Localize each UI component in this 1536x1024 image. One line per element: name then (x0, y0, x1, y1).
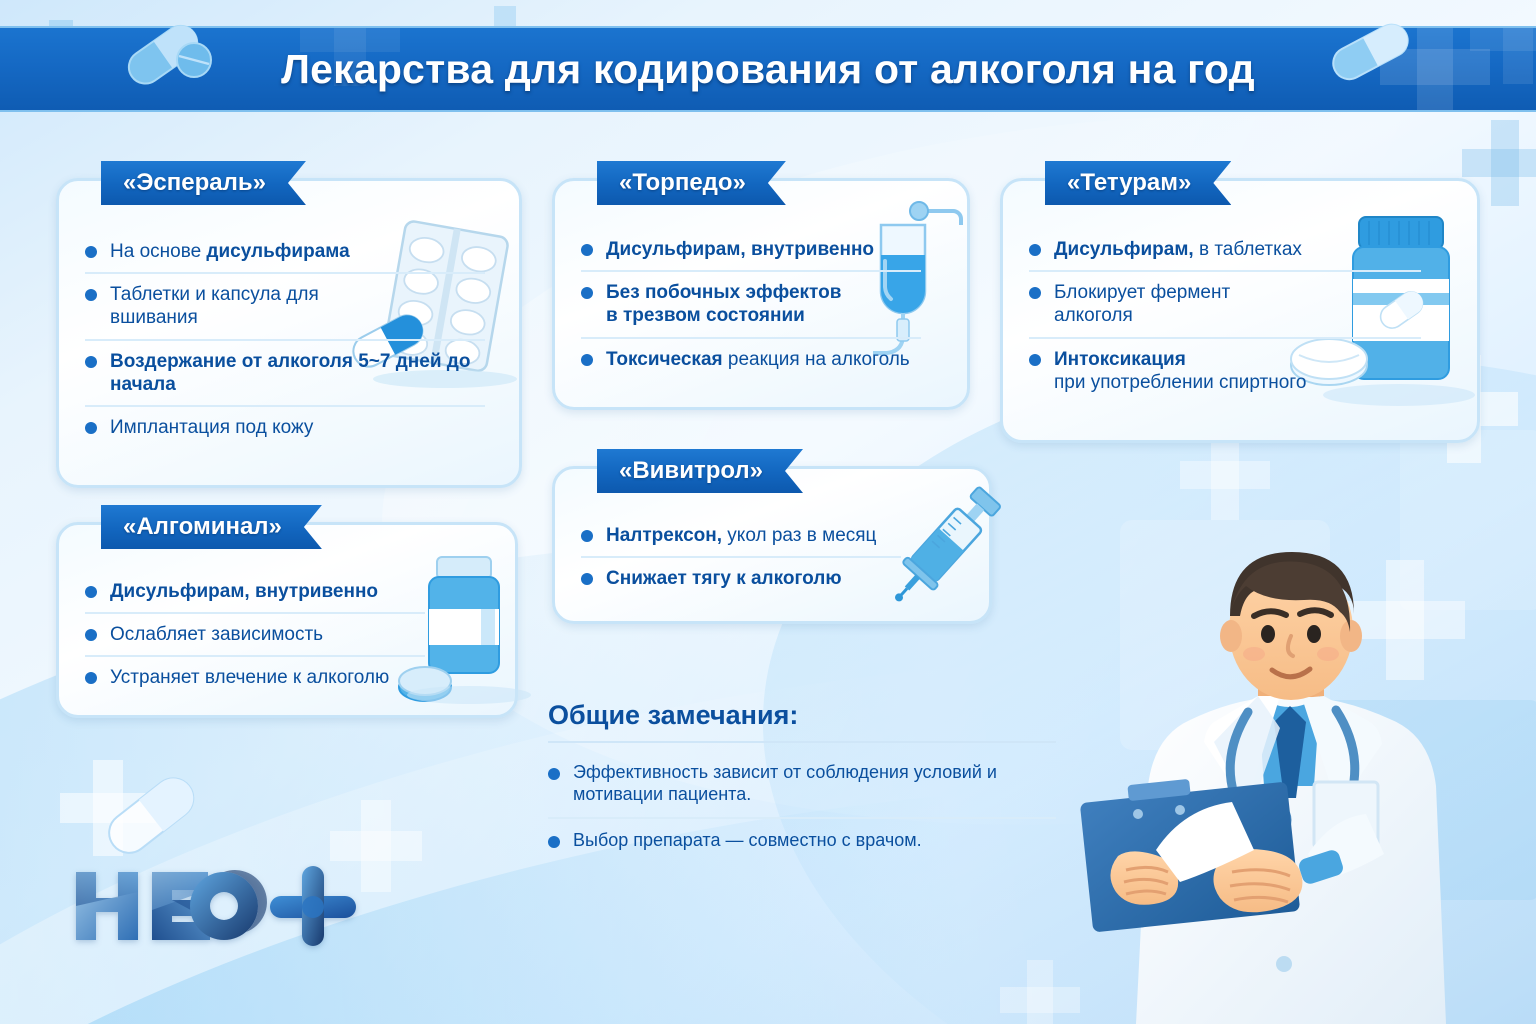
notes-heading: Общие замечания: (548, 700, 1056, 743)
list-item: Дисульфирам, внутривенно (581, 229, 921, 270)
capsule-decor-icon (90, 766, 210, 862)
cross-icon (1470, 28, 1536, 84)
bullet-dot (581, 530, 593, 542)
list-item: Налтрексон, укол раз в месяц (581, 515, 901, 556)
bullet-dot (85, 422, 97, 434)
pill-capsule-icon (1322, 18, 1418, 84)
bullet-dot (1029, 244, 1041, 256)
card-torpedo: «Торпедо» Дисульфирам, внутривенно Без п… (552, 178, 970, 410)
bullet-dot (85, 246, 97, 258)
bullet-dot (581, 244, 593, 256)
list-item: Дисульфирам, в таблетках (1029, 229, 1421, 270)
bullet-dot (1029, 354, 1041, 366)
card-teturam: «Тетурам» Дисульфирам, в таблетках (1000, 178, 1480, 443)
list-item: Устраняет влечение к алкоголю (85, 655, 425, 698)
list-item: Воздержание от алкоголя 5~7 дней до нача… (85, 339, 485, 405)
infographic-poster: Лекарства для кодирования от алкоголя на… (0, 0, 1536, 1024)
list-item: Эффективность зависит от соблюдения усло… (548, 751, 1056, 817)
page-title: Лекарства для кодирования от алкоголя на… (281, 46, 1255, 93)
bullet-dot (548, 836, 560, 848)
bullet-dot (548, 768, 560, 780)
pill-capsule-icon (118, 16, 218, 86)
card-title-algominal: «Алгоминал» (101, 505, 322, 549)
list-item: Выбор препарата — совместно с врачом. (548, 817, 1056, 863)
list-item: Блокирует фермент алкоголя (1029, 270, 1421, 336)
logo-neo-plus-icon (70, 866, 360, 946)
card-title-teturam: «Тетурам» (1045, 161, 1231, 205)
card-title-esperal: «Эспераль» (101, 161, 306, 205)
bullet-dot (85, 629, 97, 641)
general-notes-section: Общие замечания: Эффективность зависит о… (548, 700, 1056, 863)
bullet-dot (581, 287, 593, 299)
bullet-dot (1029, 287, 1041, 299)
card-title-vivitrol: «Вивитрол» (597, 449, 803, 493)
bullet-dot (85, 356, 97, 368)
list-item: Таблетки и капсула для вшивания (85, 272, 485, 338)
card-algominal: «Алгоминал» Дисульфирам, внутривенно Осл… (56, 522, 518, 718)
bullet-dot (581, 573, 593, 585)
brand-logo (70, 866, 360, 946)
poster-header: Лекарства для кодирования от алкоголя на… (0, 28, 1536, 110)
list-item: Снижает тягу к алкоголю (581, 556, 901, 599)
list-item: Ослабляет зависимость (85, 612, 425, 655)
cross-icon (1180, 430, 1270, 520)
cross-icon (60, 760, 156, 856)
list-item: На основе дисульфирама (85, 231, 485, 272)
list-item: Имплантация под кожу (85, 405, 485, 448)
doctor-with-clipboard-illustration (1062, 524, 1532, 1024)
list-item: Токсическая реакция на алкоголь (581, 337, 921, 380)
list-item: Без побочных эффектов в трезвом состояни… (581, 270, 921, 336)
bullet-dot (581, 354, 593, 366)
bullet-dot (85, 672, 97, 684)
card-title-torpedo: «Торпедо» (597, 161, 786, 205)
list-item: Интоксикация при употреблении спиртного (1029, 337, 1421, 403)
bullet-dot (85, 586, 97, 598)
bullet-dot (85, 289, 97, 301)
card-esperal: «Эспераль» (56, 178, 522, 488)
card-vivitrol: «Вивитрол» Налтрексон, укол раз в месяц (552, 466, 992, 624)
list-item: Дисульфирам, внутривенно (85, 571, 425, 612)
